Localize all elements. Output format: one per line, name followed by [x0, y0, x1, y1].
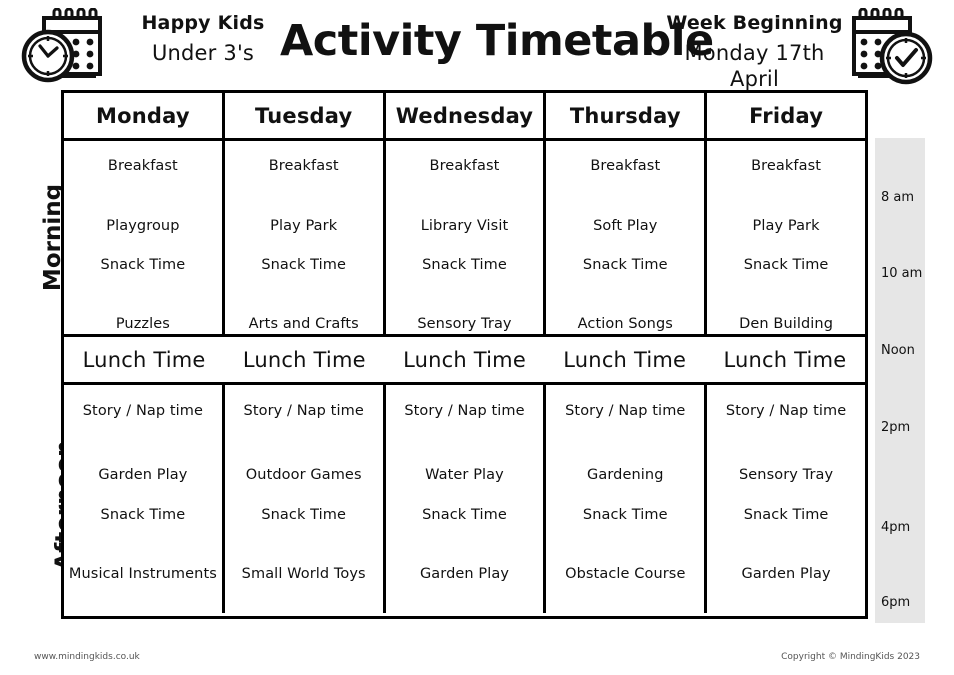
activity-item: Play Park: [225, 219, 383, 235]
week-beginning-label: Week Beginning: [662, 12, 847, 35]
lunch-row: Lunch Time Lunch Time Lunch Time Lunch T…: [64, 337, 865, 385]
activity-item: Den Building: [707, 317, 865, 333]
activity-item: Snack Time: [707, 258, 865, 274]
activity-item: Snack Time: [546, 258, 704, 274]
section-label-afternoon: Afternoon: [0, 388, 62, 623]
activity-item: Breakfast: [386, 159, 544, 175]
activity-item: Playgroup: [64, 219, 222, 235]
setting-info: Happy Kids Under 3's: [118, 12, 288, 67]
lunch-cell-wednesday: Lunch Time: [384, 348, 544, 372]
page-footer: www.mindingkids.co.uk Copyright © Mindin…: [0, 652, 954, 672]
activity-item: Sensory Tray: [707, 468, 865, 484]
activity-item: Action Songs: [546, 317, 704, 333]
afternoon-cell-monday[interactable]: Story / Nap time Garden Play Snack Time …: [64, 385, 225, 613]
time-tick-noon: Noon: [881, 343, 915, 358]
day-header-monday: Monday: [64, 93, 225, 138]
activity-item: Snack Time: [386, 258, 544, 274]
activity-item: Gardening: [546, 468, 704, 484]
lunch-cell-friday: Lunch Time: [705, 348, 865, 372]
time-tick-10am: 10 am: [881, 266, 922, 281]
activity-item: Obstacle Course: [546, 567, 704, 583]
week-info: Week Beginning Monday 17th April: [662, 12, 847, 92]
activity-item: Snack Time: [707, 508, 865, 524]
activity-item: Arts and Crafts: [225, 317, 383, 333]
footer-website[interactable]: www.mindingkids.co.uk: [34, 652, 140, 662]
day-header-friday: Friday: [707, 93, 865, 138]
footer-copyright: Copyright © MindingKids 2023: [781, 652, 920, 662]
setting-name: Happy Kids: [118, 12, 288, 35]
activity-item: Snack Time: [225, 508, 383, 524]
activity-item: Story / Nap time: [707, 404, 865, 420]
afternoon-cell-friday[interactable]: Story / Nap time Sensory Tray Snack Time…: [707, 385, 865, 613]
day-header-row: Monday Tuesday Wednesday Thursday Friday: [64, 93, 865, 141]
page-header: Happy Kids Under 3's Activity Timetable …: [0, 0, 954, 90]
activity-item: Story / Nap time: [386, 404, 544, 420]
page-title: Activity Timetable: [280, 20, 670, 63]
activity-item: Snack Time: [225, 258, 383, 274]
activity-item: Snack Time: [386, 508, 544, 524]
day-header-wednesday: Wednesday: [386, 93, 547, 138]
timetable-grid: Monday Tuesday Wednesday Thursday Friday…: [61, 90, 868, 619]
activity-item: Small World Toys: [225, 567, 383, 583]
time-tick-4pm: 4pm: [881, 520, 910, 535]
activity-item: Story / Nap time: [64, 404, 222, 420]
lunch-cell-tuesday: Lunch Time: [224, 348, 384, 372]
section-label-morning: Morning: [0, 140, 62, 335]
activity-item: Breakfast: [64, 159, 222, 175]
activity-item: Library Visit: [386, 219, 544, 235]
week-beginning-date: Monday 17th April: [662, 41, 847, 92]
lunch-cell-thursday: Lunch Time: [545, 348, 705, 372]
lunch-band[interactable]: Lunch Time Lunch Time Lunch Time Lunch T…: [64, 337, 865, 382]
activity-item: Musical Instruments: [64, 567, 222, 583]
afternoon-cell-tuesday[interactable]: Story / Nap time Outdoor Games Snack Tim…: [225, 385, 386, 613]
morning-cell-monday[interactable]: Breakfast Playgroup Snack Time Puzzles: [64, 141, 225, 334]
lunch-cell-monday: Lunch Time: [64, 348, 224, 372]
activity-item: Breakfast: [707, 159, 865, 175]
afternoon-cell-thursday[interactable]: Story / Nap time Gardening Snack Time Ob…: [546, 385, 707, 613]
morning-cell-friday[interactable]: Breakfast Play Park Snack Time Den Build…: [707, 141, 865, 334]
time-tick-6pm: 6pm: [881, 595, 910, 610]
morning-cell-tuesday[interactable]: Breakfast Play Park Snack Time Arts and …: [225, 141, 386, 334]
calendar-clock-check-icon: [844, 8, 936, 86]
activity-item: Snack Time: [546, 508, 704, 524]
activity-item: Snack Time: [64, 258, 222, 274]
activity-item: Breakfast: [546, 159, 704, 175]
morning-cell-wednesday[interactable]: Breakfast Library Visit Snack Time Senso…: [386, 141, 547, 334]
activity-item: Story / Nap time: [225, 404, 383, 420]
time-tick-8am: 8 am: [881, 190, 914, 205]
day-header-thursday: Thursday: [546, 93, 707, 138]
activity-item: Garden Play: [386, 567, 544, 583]
activity-item: Snack Time: [64, 508, 222, 524]
activity-item: Outdoor Games: [225, 468, 383, 484]
time-tick-2pm: 2pm: [881, 420, 910, 435]
afternoon-cell-wednesday[interactable]: Story / Nap time Water Play Snack Time G…: [386, 385, 547, 613]
afternoon-row: Story / Nap time Garden Play Snack Time …: [64, 385, 865, 613]
activity-item: Sensory Tray: [386, 317, 544, 333]
day-header-tuesday: Tuesday: [225, 93, 386, 138]
activity-item: Story / Nap time: [546, 404, 704, 420]
activity-item: Breakfast: [225, 159, 383, 175]
activity-item: Water Play: [386, 468, 544, 484]
time-scale-strip: 8 am 10 am Noon 2pm 4pm 6pm: [875, 138, 925, 623]
age-group: Under 3's: [118, 41, 288, 67]
activity-item: Play Park: [707, 219, 865, 235]
activity-item: Garden Play: [64, 468, 222, 484]
calendar-clock-icon: [18, 8, 110, 86]
morning-cell-thursday[interactable]: Breakfast Soft Play Snack Time Action So…: [546, 141, 707, 334]
morning-row: Breakfast Playgroup Snack Time Puzzles B…: [64, 141, 865, 337]
activity-item: Puzzles: [64, 317, 222, 333]
activity-item: Garden Play: [707, 567, 865, 583]
activity-item: Soft Play: [546, 219, 704, 235]
timetable-page: Happy Kids Under 3's Activity Timetable …: [0, 0, 954, 675]
